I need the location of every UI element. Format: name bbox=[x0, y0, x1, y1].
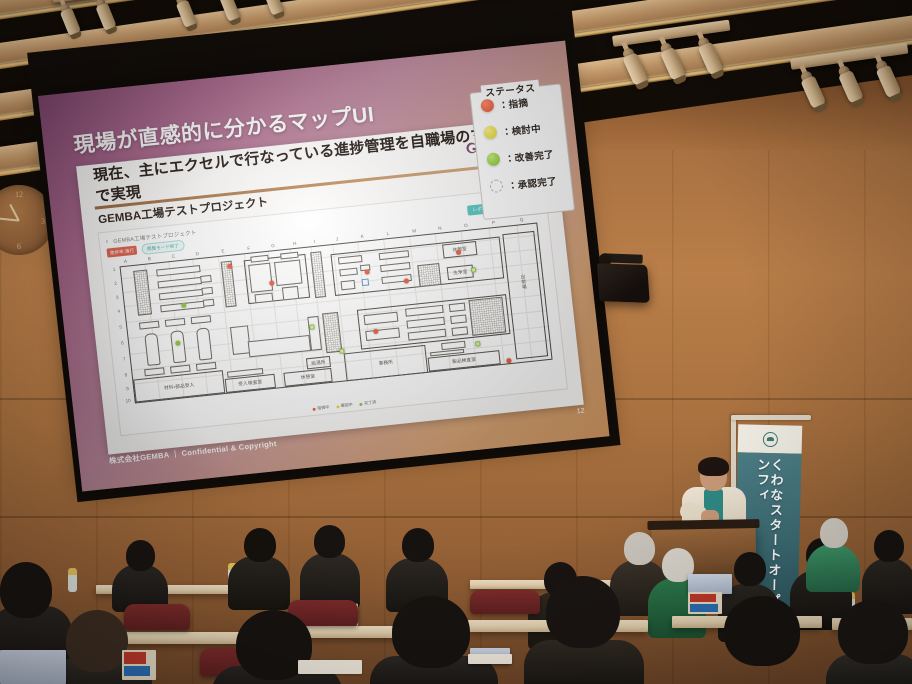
banner-header bbox=[738, 424, 803, 454]
status-marker-red[interactable] bbox=[364, 269, 369, 274]
audience-member bbox=[862, 530, 912, 610]
slide-page-number: 12 bbox=[576, 408, 585, 416]
machine bbox=[468, 297, 506, 336]
status-marker-red[interactable] bbox=[373, 329, 378, 334]
map-legend-item: 確認中 bbox=[336, 402, 353, 410]
legend-dot-red-icon bbox=[480, 98, 494, 112]
legend-dot-green-icon bbox=[486, 152, 500, 166]
machine bbox=[451, 326, 468, 336]
machine bbox=[341, 280, 356, 290]
audience-member bbox=[228, 528, 290, 608]
audience-member bbox=[806, 518, 860, 588]
machine bbox=[450, 314, 467, 324]
machine bbox=[274, 260, 303, 287]
machine bbox=[248, 263, 273, 293]
app-screenshot: ‹ GEMBA工場テストプロジェクト 進捗率:進行 閲覧モード終了 レポート出力… bbox=[98, 185, 568, 436]
projected-slide: 現場が直感的に分かるマップUI 現在、主にエクセルで行なっている進捗管理を自職場… bbox=[38, 41, 609, 492]
clock-numeral: 6 bbox=[17, 242, 21, 251]
audience-member-foreground bbox=[370, 596, 498, 684]
legend-dot-green-icon bbox=[359, 402, 362, 405]
audience-member-foreground bbox=[524, 576, 644, 684]
status-marker-green[interactable] bbox=[175, 341, 180, 346]
legend-dot-red-icon bbox=[313, 407, 316, 410]
map-legend-item: 完了済 bbox=[359, 399, 376, 407]
laptop bbox=[688, 574, 732, 594]
machine bbox=[361, 278, 369, 286]
machine bbox=[200, 275, 212, 283]
status-marker-red[interactable] bbox=[506, 358, 511, 363]
banner-pole-horizontal bbox=[731, 415, 811, 420]
wall-pa-speaker-icon bbox=[594, 250, 653, 306]
status-marker-approved[interactable] bbox=[471, 267, 477, 272]
chevron-left-icon[interactable]: ‹ bbox=[105, 236, 109, 245]
status-legend: ステータス ：指摘 ：検討中 ：改善完了 ：承認完了 bbox=[469, 83, 575, 220]
machine bbox=[201, 287, 213, 295]
paper-handout bbox=[468, 654, 512, 664]
clock-numeral: 3 bbox=[41, 217, 45, 226]
status-marker-red[interactable] bbox=[404, 278, 409, 283]
machine bbox=[254, 293, 273, 304]
status-marker-red[interactable] bbox=[456, 250, 461, 255]
laptop bbox=[0, 650, 66, 684]
status-marker-green[interactable] bbox=[181, 303, 186, 308]
status-marker-approved[interactable] bbox=[309, 324, 315, 329]
circular-emblem-icon bbox=[762, 431, 777, 446]
status-marker-red[interactable] bbox=[227, 264, 232, 269]
paper-handout bbox=[298, 660, 362, 674]
machine bbox=[417, 263, 441, 287]
projection-screen-assembly: 現場が直感的に分かるマップUI 現在、主にエクセルで行なっている進捗管理を自職場… bbox=[38, 41, 610, 494]
map-legend-item: 指摘中 bbox=[312, 404, 329, 412]
printed-handout bbox=[122, 650, 156, 680]
legend-dot-dashed-icon bbox=[489, 179, 503, 193]
machine bbox=[282, 286, 299, 301]
audience-member-foreground bbox=[826, 600, 912, 684]
status-marker-approved[interactable] bbox=[475, 341, 481, 346]
audience-member bbox=[300, 525, 360, 607]
room-wash[interactable]: 洗浄室 bbox=[447, 265, 474, 281]
legend-label: ：承認完了 bbox=[507, 173, 557, 192]
legend-dot-yellow-icon bbox=[483, 125, 497, 139]
status-marker-approved[interactable] bbox=[339, 348, 345, 353]
legend-label: ：検討中 bbox=[501, 120, 542, 138]
legend-dot-yellow-icon bbox=[336, 405, 339, 408]
audience-member bbox=[112, 540, 168, 610]
status-marker-red[interactable] bbox=[269, 280, 274, 285]
machine bbox=[449, 303, 466, 313]
conference-hall-photo: 12 3 6 現場が直感的に分かるマップUI 現在、主にエクセルで行なっている進… bbox=[0, 0, 912, 684]
printed-handout bbox=[688, 592, 722, 614]
legend-label: ：改善完了 bbox=[504, 146, 554, 165]
clock-numeral: 12 bbox=[15, 190, 23, 199]
machine bbox=[203, 299, 215, 307]
